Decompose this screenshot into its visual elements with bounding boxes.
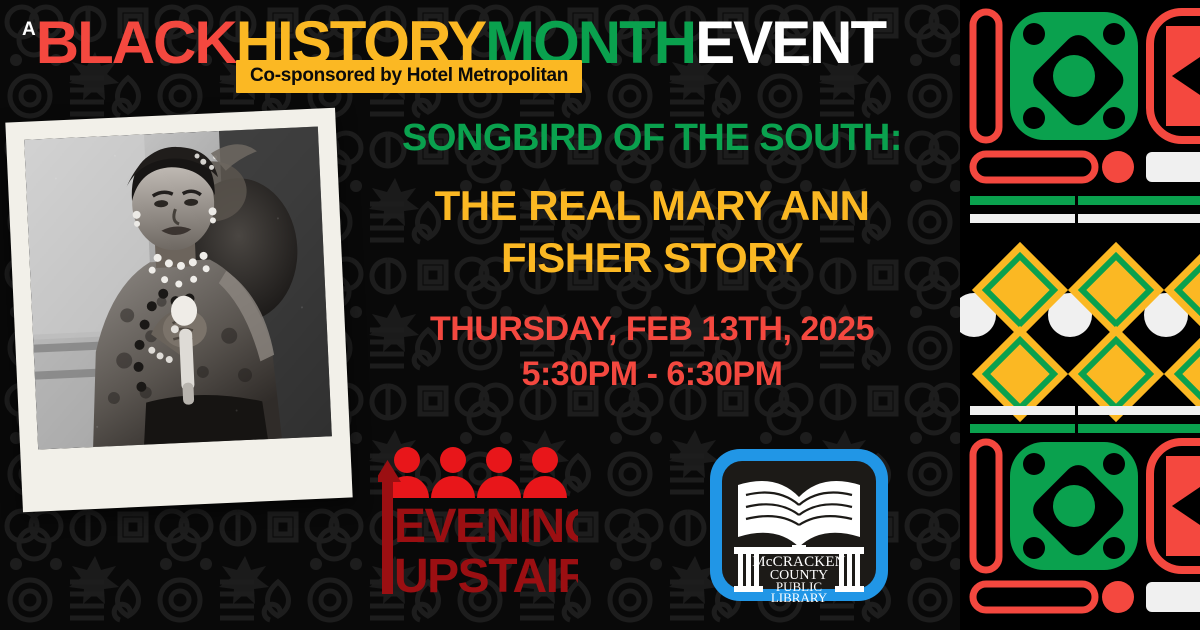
library-line4: LIBRARY	[771, 590, 828, 603]
headline-word-event: EVENT	[695, 9, 885, 76]
mccracken-library-logo: McCRACKEN COUNTY PUBLIC LIBRARY	[708, 447, 890, 603]
event-poster: ABLACKHISTORYMONTHEVENT Co-sponsored by …	[0, 0, 1200, 630]
polaroid-frame	[5, 108, 352, 513]
event-subtitle: SONGBIRD OF THE SOUTH:	[352, 118, 952, 158]
event-title-line2: FISHER STORY	[352, 232, 952, 283]
event-title: THE REAL MARY ANN FISHER STORY	[352, 180, 952, 282]
performer-photo	[24, 127, 332, 450]
cosponsor-text: Co-sponsored by Hotel Metropolitan	[250, 65, 568, 87]
event-time: 5:30PM - 6:30PM	[352, 354, 952, 395]
decorative-pattern-band	[960, 0, 1200, 630]
event-datetime: THURSDAY, FEB 13TH, 2025 5:30PM - 6:30PM	[352, 309, 952, 395]
cosponsor-banner: Co-sponsored by Hotel Metropolitan	[236, 60, 582, 93]
headline-word-black: BLACK	[36, 9, 236, 76]
event-date: THURSDAY, FEB 13TH, 2025	[352, 309, 952, 350]
audience-figures-icon	[385, 447, 567, 498]
headline-eyebrow: A	[22, 19, 36, 40]
event-details: SONGBIRD OF THE SOUTH: THE REAL MARY ANN…	[352, 118, 952, 394]
event-title-line1: THE REAL MARY ANN	[352, 180, 952, 231]
evenings-text: EVENINGS	[394, 500, 578, 553]
upstairs-text: UPSTAIRS	[394, 550, 578, 601]
evenings-upstairs-logo: EVENINGS UPSTAIRS	[378, 446, 578, 601]
poster-header: ABLACKHISTORYMONTHEVENT Co-sponsored by …	[0, 0, 960, 100]
